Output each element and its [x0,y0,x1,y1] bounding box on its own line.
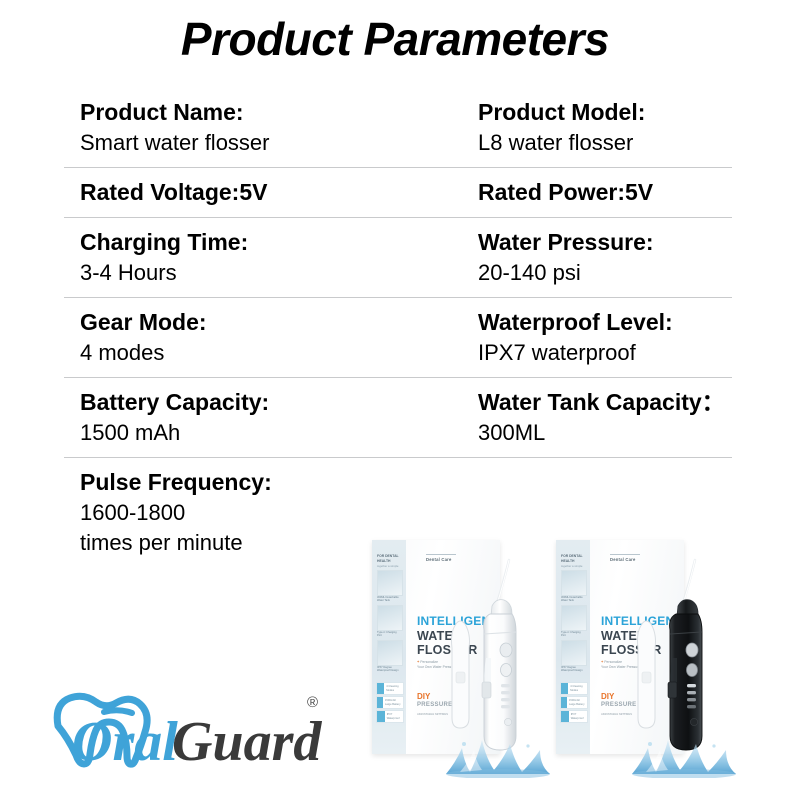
product-photo-area: FOR DENTAL HEALTH together a simple wash… [368,516,790,790]
spec-row: Gear Mode: 4 modes Waterproof Level: IPX… [64,298,732,378]
package-side-panel: FOR DENTAL HEALTH together a simple wash… [556,540,590,754]
spec-label: Pulse Frequency: [80,467,478,498]
side-feature-image [561,570,587,596]
side-feature-image [377,605,403,631]
package-brand: Dental Care [426,557,451,562]
chip-icon [377,711,385,722]
spec-value: L8 water flosser [478,128,732,158]
spec-label: Battery Capacity: [80,387,478,418]
spec-cell-left: Charging Time: 3-4 Hours [64,218,478,297]
spec-label: Charging Time: [80,227,478,258]
chip-icon [377,683,384,694]
spec-value: 300ML [478,418,732,448]
side-feature-image [377,570,403,596]
package-side-panel: FOR DENTAL HEALTH together a simple wash… [372,540,406,754]
brand-rule [610,554,640,555]
spec-cell-left: Gear Mode: 4 modes [64,298,478,377]
brand-rule [426,554,456,555]
spec-row: Product Name: Smart water flosser Produc… [64,88,732,168]
side-feature-caption: IPX7 Degree Waterproof Design [561,666,585,673]
side-feature-image [377,640,403,666]
side-feature-image [561,605,587,631]
spec-value: 20-140 psi [478,258,732,288]
spec-value: IPX7 waterproof [478,338,732,368]
spec-label: Product Model: [478,97,732,128]
chip-icon [561,683,568,694]
side-feature-chip: 4 Cleaning Modes [376,682,404,695]
spec-cell-left: Rated Voltage:5V [64,168,478,217]
spec-cell-left: Battery Capacity: 1500 mAh [64,378,478,457]
spec-cell-right: Water Tank Capacity： 300ML [478,378,732,457]
spec-label: Waterproof Level: [478,307,732,338]
spec-cell-right: Water Pressure: 20-140 psi [478,218,732,297]
flosser-white [468,554,528,760]
spec-label: Rated Power:5V [478,177,732,208]
spec-row: Charging Time: 3-4 Hours Water Pressure:… [64,218,732,298]
chip-icon [561,711,569,722]
spec-row: Rated Voltage:5V Rated Power:5V [64,168,732,218]
spec-label: Product Name: [80,97,478,128]
logo-word-guard: Guard [172,711,322,773]
spec-label: Gear Mode: [80,307,478,338]
spec-label: Water Pressure: [478,227,732,258]
page-title: Product Parameters [0,12,790,66]
side-feature-chip: IPX7 Waterproof [560,710,588,723]
spec-cell-left: Product Name: Smart water flosser [64,88,478,167]
water-splash [440,732,560,778]
registered-trademark-icon: ® [307,694,318,711]
spec-value: 4 modes [80,338,478,368]
spec-cell-right: Waterproof Level: IPX7 waterproof [478,298,732,377]
side-feature-chip: 4 Cleaning Modes [560,682,588,695]
side-feature-caption: Type-C Charging Port [377,631,401,638]
side-feature-chip: IPX7 Waterproof [376,710,404,723]
spec-value: 1500 mAh [80,418,478,448]
side-feature-chip: 1500mAh Large Battery [560,696,588,709]
spec-label: Water Tank Capacity： [478,387,732,418]
flosser-black [654,554,714,760]
brand-logo: Oral Guard ® [44,686,324,778]
side-feature-caption: IPX7 Degree Waterproof Design [377,666,401,673]
side-feature-caption: Type-C Charging Port [561,631,585,638]
spec-cell-right: Rated Power:5V [478,168,732,217]
logo-word-oral: Oral [72,711,178,773]
spec-value: Smart water flosser [80,128,478,158]
side-feature-caption: 300ML Detachable Water Tank [561,596,585,603]
product-parameters-infographic: Product Parameters Product Name: Smart w… [0,0,790,790]
spec-row: Battery Capacity: 1500 mAh Water Tank Ca… [64,378,732,458]
spec-cell-right: Product Model: L8 water flosser [478,88,732,167]
side-feature-chip: 1500mAh Large Battery [376,696,404,709]
water-splash [626,732,746,778]
side-feature-caption: 300ML Detachable Water Tank [377,596,401,603]
spec-value: 3-4 Hours [80,258,478,288]
spec-label: Rated Voltage:5V [80,177,478,208]
spec-table: Product Name: Smart water flosser Produc… [64,88,732,567]
side-feature-image [561,640,587,666]
package-brand: Dental Care [610,557,635,562]
